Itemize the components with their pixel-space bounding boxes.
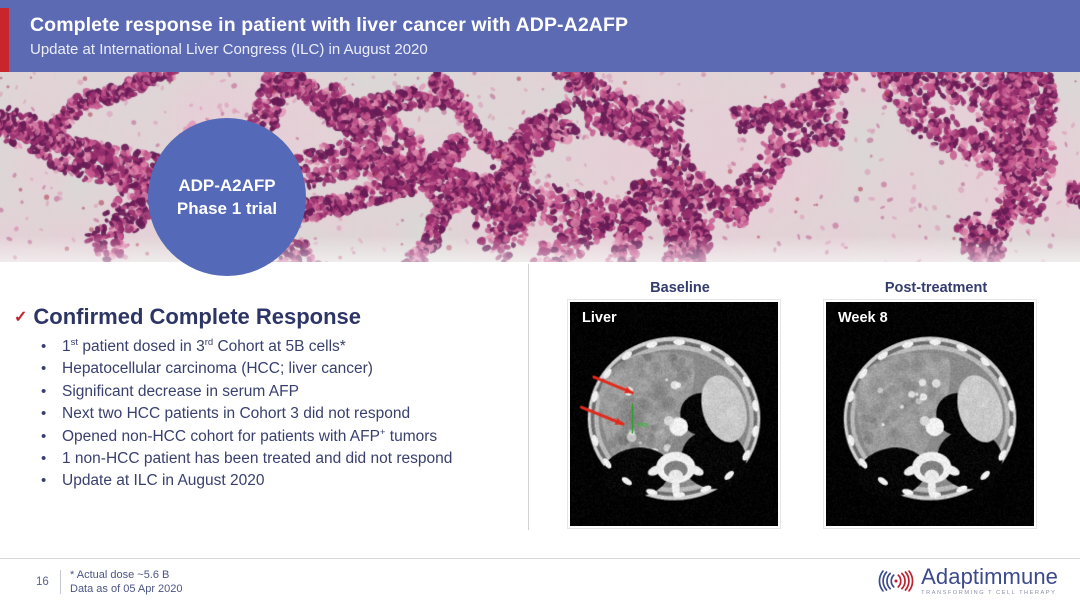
footnotes: * Actual dose ~5.6 B Data as of 05 Apr 2… [70, 568, 183, 596]
bullet-text: 1 non-HCC patient has been treated and d… [62, 450, 452, 467]
findings-heading-text: Confirmed Complete Response [33, 304, 361, 329]
page-number: 16 [36, 576, 49, 588]
bullet-dot-icon: • [41, 381, 46, 403]
footnote-line-1: * Actual dose ~5.6 B [70, 568, 183, 582]
logo-wordmark: Adaptimmune [921, 566, 1058, 588]
trial-callout-badge: ADP-A2AFP Phase 1 trial [148, 118, 306, 276]
footer-divider [0, 558, 1080, 559]
logo-text: Adaptimmune TRANSFORMING T CELL THERAPY [921, 566, 1058, 597]
ct-scan-post-treatment: Week 8 [824, 300, 1036, 528]
callout-line-1: ADP-A2AFP [178, 174, 275, 197]
ct-post-treatment-canvas [826, 302, 1034, 526]
bullet-text: 1st patient dosed in 3rd Cohort at 5B ce… [62, 338, 346, 355]
bullet-text: Hepatocellular carcinoma (HCC; liver can… [62, 360, 373, 377]
adaptimmune-logo-mark [878, 568, 914, 594]
bullet-item: •Opened non-HCC cohort for patients with… [30, 426, 525, 448]
slide-header: Complete response in patient with liver … [0, 0, 1080, 72]
bullet-dot-icon: • [41, 403, 46, 425]
bullet-text: Update at ILC in August 2020 [62, 472, 265, 489]
callout-line-2: Phase 1 trial [177, 197, 277, 220]
ct-baseline-canvas [570, 302, 778, 526]
bullet-text: Significant decrease in serum AFP [62, 383, 299, 400]
bullet-item: •Update at ILC in August 2020 [30, 470, 525, 492]
footer-vertical-rule [60, 570, 61, 594]
ct-scan-baseline: Liver [568, 300, 780, 528]
bullet-item: •Next two HCC patients in Cohort 3 did n… [30, 403, 525, 425]
page-title: Complete response in patient with liver … [30, 14, 628, 37]
findings-heading: ✓Confirmed Complete Response [14, 304, 361, 330]
bullet-dot-icon: • [41, 426, 46, 448]
logo-tagline: TRANSFORMING T CELL THERAPY [921, 591, 1058, 597]
scan-title-post-treatment: Post-treatment [824, 280, 1048, 296]
bullet-item: •Significant decrease in serum AFP [30, 381, 525, 403]
ct-scan-section: Baseline Post-treatment Liver Week 8 [528, 262, 1080, 552]
footnote-line-2: Data as of 05 Apr 2020 [70, 582, 183, 596]
bullet-dot-icon: • [41, 336, 46, 358]
bullet-dot-icon: • [41, 470, 46, 492]
adaptimmune-logo: Adaptimmune TRANSFORMING T CELL THERAPY [878, 566, 1058, 597]
bullet-text: Next two HCC patients in Cohort 3 did no… [62, 405, 410, 422]
bullet-item: •1st patient dosed in 3rd Cohort at 5B c… [30, 336, 525, 358]
bullet-item: •Hepatocellular carcinoma (HCC; liver ca… [30, 358, 525, 380]
bullet-dot-icon: • [41, 448, 46, 470]
bullet-item: •1 non-HCC patient has been treated and … [30, 448, 525, 470]
findings-bullet-list: •1st patient dosed in 3rd Cohort at 5B c… [30, 336, 525, 493]
bullet-dot-icon: • [41, 358, 46, 380]
page-subtitle: Update at International Liver Congress (… [30, 41, 428, 58]
check-icon: ✓ [14, 307, 27, 327]
ct-baseline-overlay-label: Liver [582, 310, 617, 326]
scan-title-baseline: Baseline [568, 280, 792, 296]
findings-section: ✓Confirmed Complete Response •1st patien… [0, 262, 528, 552]
ct-post-treatment-overlay-label: Week 8 [838, 310, 888, 326]
bullet-text: Opened non-HCC cohort for patients with … [62, 428, 437, 445]
header-accent-bar [0, 8, 9, 72]
slide-root: Complete response in patient with liver … [0, 0, 1080, 608]
